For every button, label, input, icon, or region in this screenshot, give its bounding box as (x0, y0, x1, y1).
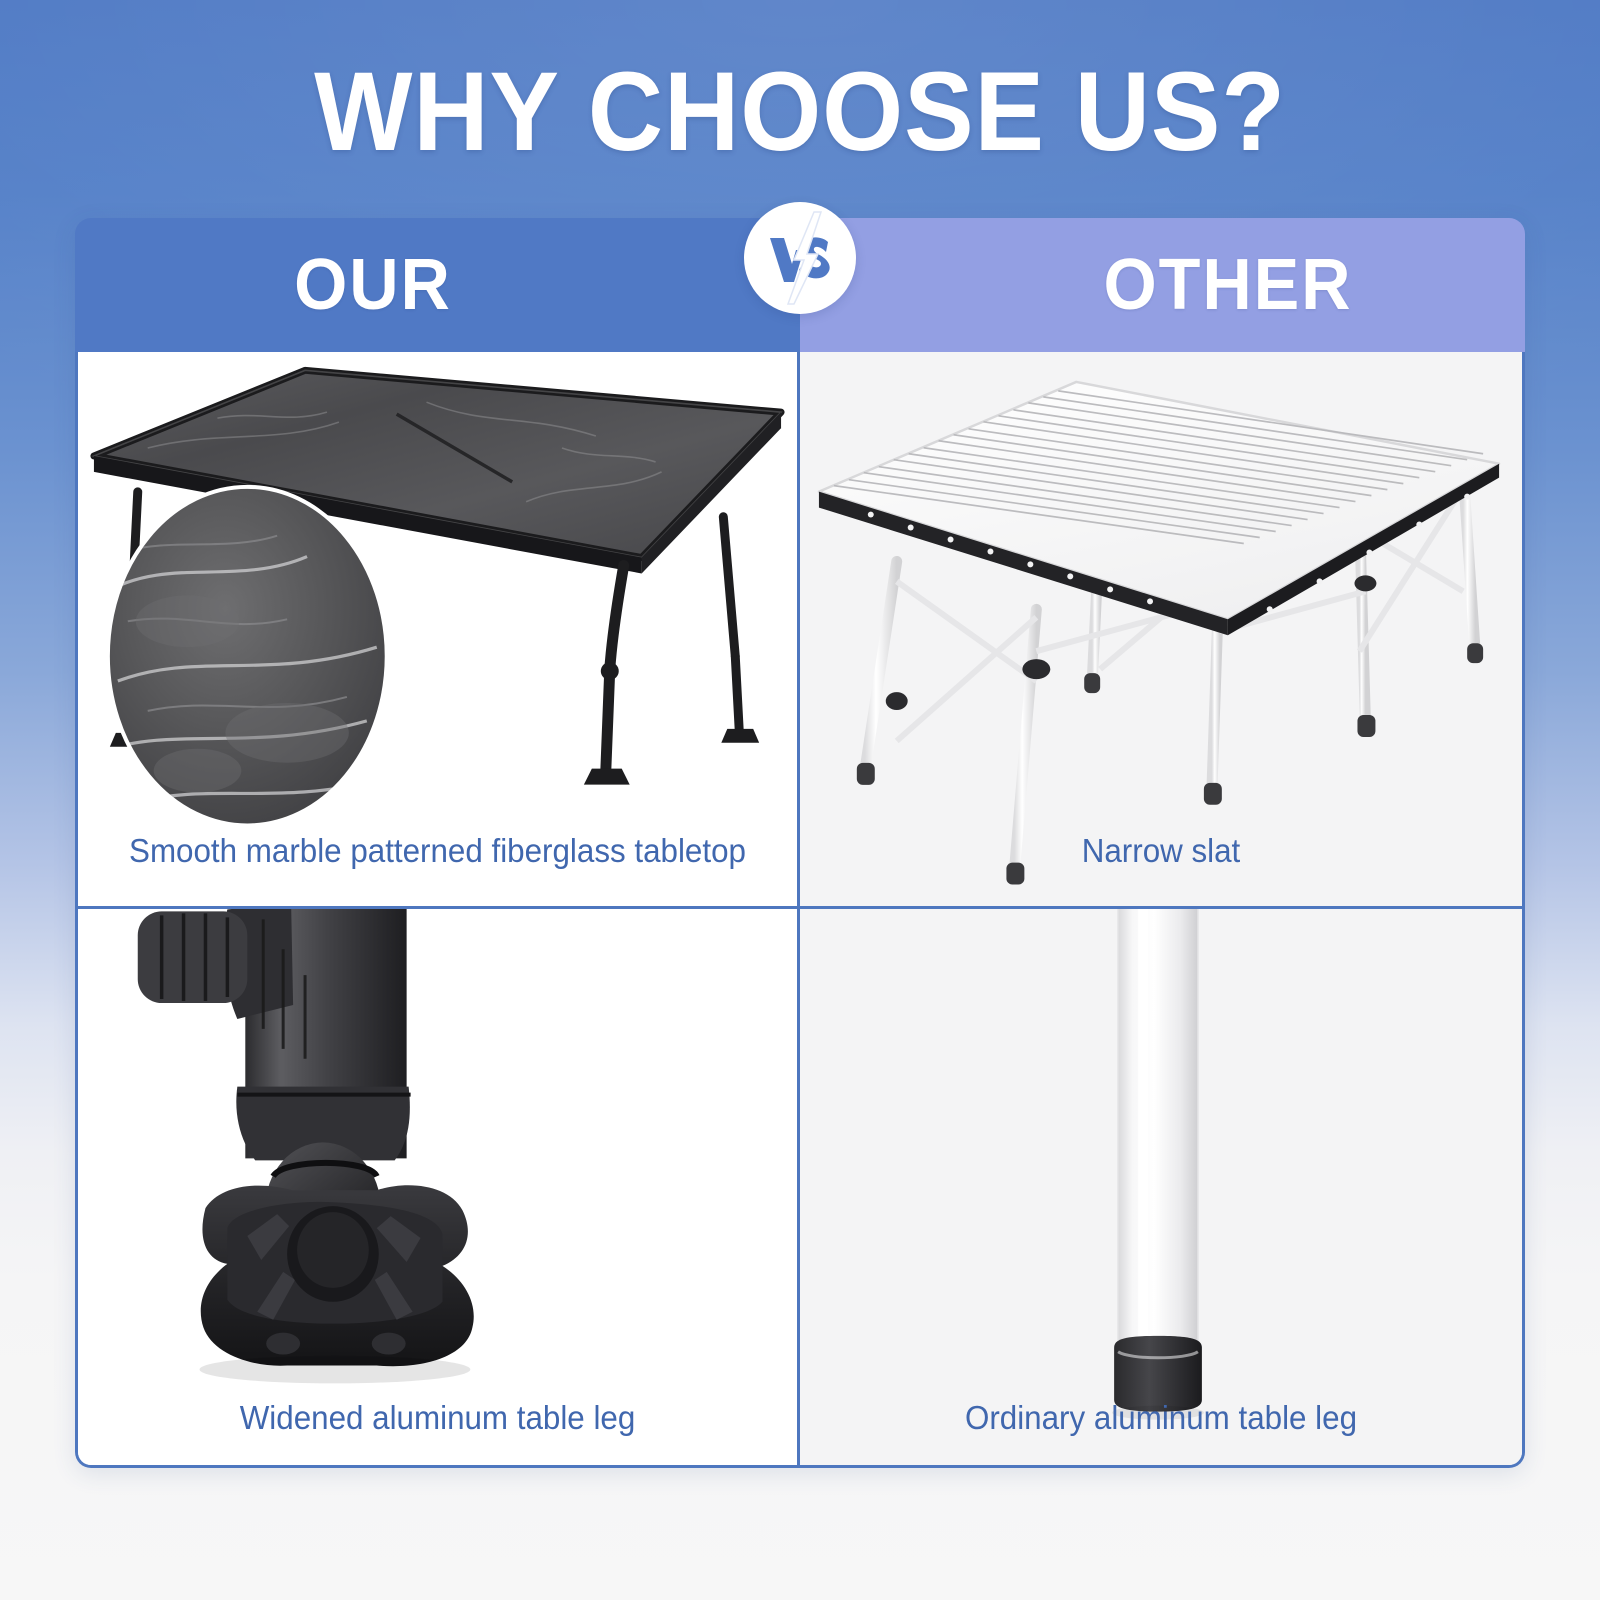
header-our-side: OUR (75, 218, 800, 352)
comparison-grid: Smooth marble patterned fiberglass table… (75, 352, 1525, 1468)
page-title: WHY CHOOSE US? (56, 56, 1544, 168)
header-other-side: OTHER (800, 218, 1525, 352)
caption-our-tabletop: Smooth marble patterned fiberglass table… (96, 832, 779, 870)
caption-our-leg: Widened aluminum table leg (96, 1399, 779, 1437)
white-slat-roll-table-image (800, 352, 1522, 906)
comparison-cell-other-slat: Narrow slat (800, 352, 1522, 909)
vs-badge-icon (744, 202, 856, 314)
marble-top-folding-table-image (78, 352, 797, 906)
caption-other-leg: Ordinary aluminum table leg (818, 1399, 1504, 1437)
header-our-label: OUR (294, 249, 452, 321)
header-other-label: OTHER (1103, 249, 1352, 321)
widened-leg-foot-image (78, 909, 797, 1466)
comparison-cell-our-tabletop: Smooth marble patterned fiberglass table… (78, 352, 800, 909)
comparison-card: OUR OTHER (75, 218, 1525, 1468)
comparison-cell-our-leg: Widened aluminum table leg (78, 909, 800, 1466)
thin-white-tube-leg-image (800, 909, 1522, 1466)
comparison-cell-other-leg: Ordinary aluminum table leg (800, 909, 1522, 1466)
caption-other-slat: Narrow slat (818, 832, 1504, 870)
